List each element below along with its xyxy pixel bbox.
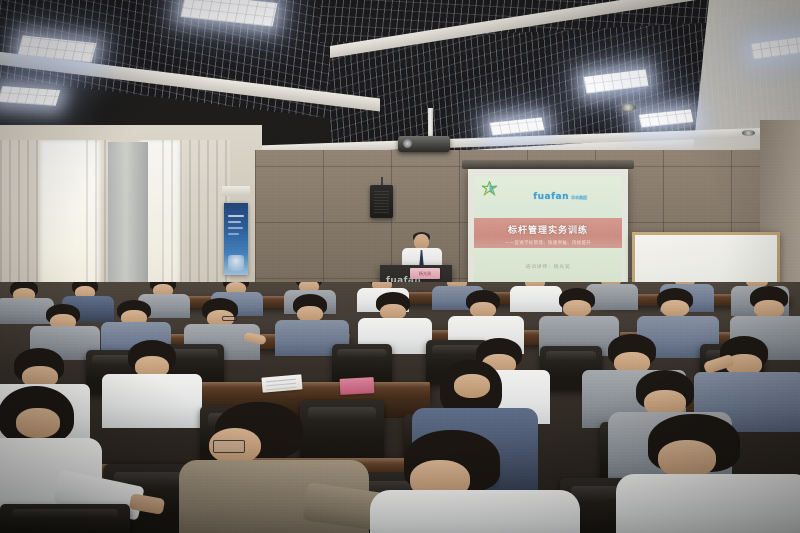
slide-brand-text: fuafan — [533, 192, 569, 202]
pink-notebook — [340, 377, 375, 395]
ceiling-downlight-1 — [620, 104, 636, 111]
blue-standing-banner — [224, 203, 248, 275]
ceiling-light-3 — [0, 86, 60, 106]
audience-seating-area — [0, 282, 800, 533]
banner-figure-graphic — [228, 255, 244, 271]
slide-title: 标杆管理实务训练 — [474, 223, 622, 236]
slide-subtitle: ——促进学标管理、快速突破、持续提升 — [474, 240, 622, 246]
slide-presenter-line: 培训讲师：杨光润 — [474, 263, 622, 270]
slide-brand-logo: fuafan华丰集团 — [533, 192, 587, 202]
star-logo-icon — [481, 181, 498, 196]
projector-mount-pole — [428, 108, 433, 138]
wall-speaker — [370, 185, 393, 218]
podium-nameplate: 杨光润 — [410, 268, 440, 279]
chair-front-4 — [0, 504, 130, 533]
projector-lens — [403, 139, 412, 148]
chair-8 — [300, 400, 384, 460]
slide-brand-subtext: 华丰集团 — [571, 195, 587, 200]
podium-nameplate-text: 杨光润 — [410, 268, 440, 279]
desk-row3-a — [200, 382, 430, 402]
presentation-slide: fuafan华丰集团 标杆管理实务训练 ——促进学标管理、快速突破、持续提升 培… — [474, 176, 622, 282]
banner-header-plate — [222, 186, 250, 196]
projection-screen: fuafan华丰集团 标杆管理实务训练 ——促进学标管理、快速突破、持续提升 培… — [468, 169, 628, 289]
ceiling-downlight-2 — [742, 130, 755, 136]
screen-housing — [462, 160, 634, 169]
training-room-photo: fuafan华丰集团 标杆管理实务训练 ——促进学标管理、快速突破、持续提升 培… — [0, 0, 800, 533]
